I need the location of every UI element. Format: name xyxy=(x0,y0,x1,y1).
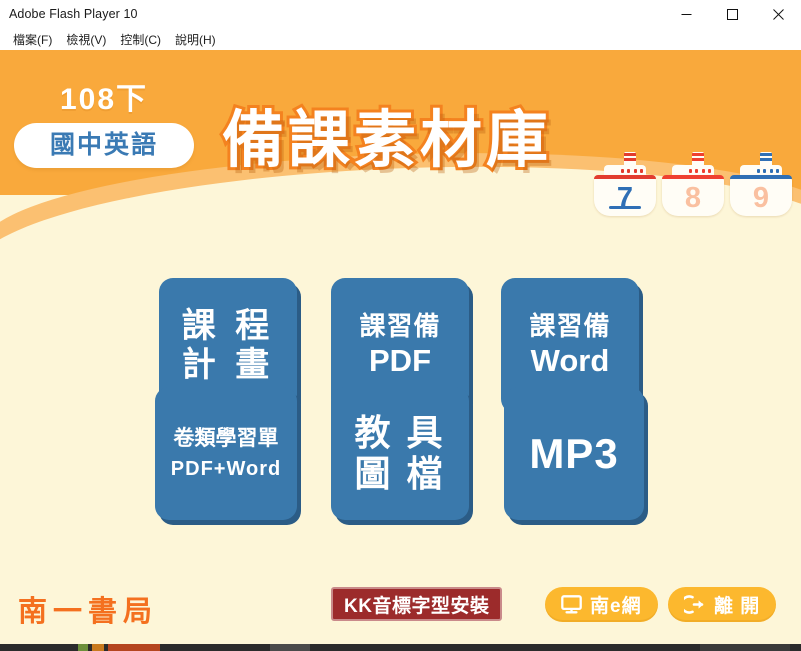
tile-line2: 圖 檔 xyxy=(354,454,445,494)
boat-hull-icon: 7 xyxy=(594,175,656,216)
exit-button[interactable]: 離 開 xyxy=(668,587,776,622)
window-title: Adobe Flash Player 10 xyxy=(0,7,138,21)
tile-line1: 卷類學習單 xyxy=(174,427,279,451)
grade-tab-label: 8 xyxy=(685,184,701,213)
desktop-sliver-e xyxy=(700,644,790,651)
desktop-sliver-b xyxy=(92,644,104,651)
menu-item-file[interactable]: 檔案(F) xyxy=(6,29,59,50)
tile-line2: PDF+Word xyxy=(171,458,281,480)
close-icon xyxy=(773,9,784,20)
exit-label: 離 開 xyxy=(714,591,760,618)
button-row-2: 卷類學習單 PDF+Word 教 具 圖 檔 MP3 xyxy=(0,374,801,526)
minimize-icon xyxy=(681,9,692,20)
badge-subject-pill: 國中英語 xyxy=(14,123,194,168)
tile-mp3[interactable]: MP3 xyxy=(504,387,644,520)
title-bar: Adobe Flash Player 10 xyxy=(0,0,801,28)
tile-line1: 課 程 xyxy=(182,307,274,345)
desktop-sliver-a xyxy=(78,644,88,651)
grade-tab-label: 9 xyxy=(753,184,769,213)
maximize-button[interactable] xyxy=(709,0,755,28)
menu-item-control[interactable]: 控制(C) xyxy=(113,29,168,50)
window-controls xyxy=(663,0,801,28)
grade-tab-8[interactable]: 8 xyxy=(662,152,724,216)
kk-font-install-label: KK音標字型安裝 xyxy=(344,591,489,618)
footer-bar: 南一書局 KK音標字型安裝 南e網 xyxy=(0,578,801,644)
flash-stage: 108下 國中英語 備課素材庫 7 xyxy=(0,50,801,644)
boat-trim-icon xyxy=(594,175,656,179)
minimize-button[interactable] xyxy=(663,0,709,28)
tile-line1: MP3 xyxy=(529,430,618,477)
tile-teaching-aid-images[interactable]: 教 具 圖 檔 xyxy=(331,387,469,520)
nan-e-web-button[interactable]: 南e網 xyxy=(545,587,658,622)
boat-hull-icon: 9 xyxy=(730,175,792,216)
tile-line1: 課習備 xyxy=(359,312,440,341)
boat-hull-icon: 8 xyxy=(662,175,724,216)
boat-trim-icon xyxy=(662,175,724,179)
close-button[interactable] xyxy=(755,0,801,28)
flash-player-window: Adobe Flash Player 10 檔案(F) 檢視(V) 控制(C) xyxy=(0,0,801,651)
desktop-background-strip xyxy=(0,644,801,651)
tile-line1: 教 具 xyxy=(354,413,445,453)
course-badge: 108下 國中英語 xyxy=(14,85,194,168)
page-title: 備課素材庫 xyxy=(222,110,552,172)
grade-tab-9[interactable]: 9 xyxy=(730,152,792,216)
menu-item-help[interactable]: 說明(H) xyxy=(168,29,223,50)
resource-button-grid: 課 程 計 畫 課習備 PDF 課習備 Word 卷類學習單 PDF+Word xyxy=(0,222,801,526)
desktop-sliver-c xyxy=(108,644,160,651)
grade-tab-7[interactable]: 7 xyxy=(594,152,656,216)
tile-worksheet-pdf-word[interactable]: 卷類學習單 PDF+Word xyxy=(155,387,297,520)
badge-subject-label: 國中英語 xyxy=(50,133,158,158)
grade-tab-group: 7 8 xyxy=(594,152,796,216)
menu-bar: 檔案(F) 檢視(V) 控制(C) 說明(H) xyxy=(0,28,801,50)
desktop-sliver-d xyxy=(270,644,310,651)
monitor-icon xyxy=(561,595,582,614)
kk-font-install-button[interactable]: KK音標字型安裝 xyxy=(331,587,502,621)
exit-arrow-icon xyxy=(684,595,706,614)
nan-e-web-label: 南e網 xyxy=(590,591,642,618)
menu-item-view[interactable]: 檢視(V) xyxy=(59,29,113,50)
maximize-icon xyxy=(727,9,738,20)
grade-tab-selected-underline xyxy=(609,206,641,209)
badge-year-label: 108下 xyxy=(14,85,194,115)
boat-trim-icon xyxy=(730,175,792,179)
publisher-logo: 南一書局 xyxy=(18,588,158,630)
button-row-1: 課 程 計 畫 課習備 PDF 課習備 Word xyxy=(0,222,801,374)
tile-line1: 課習備 xyxy=(529,312,610,341)
